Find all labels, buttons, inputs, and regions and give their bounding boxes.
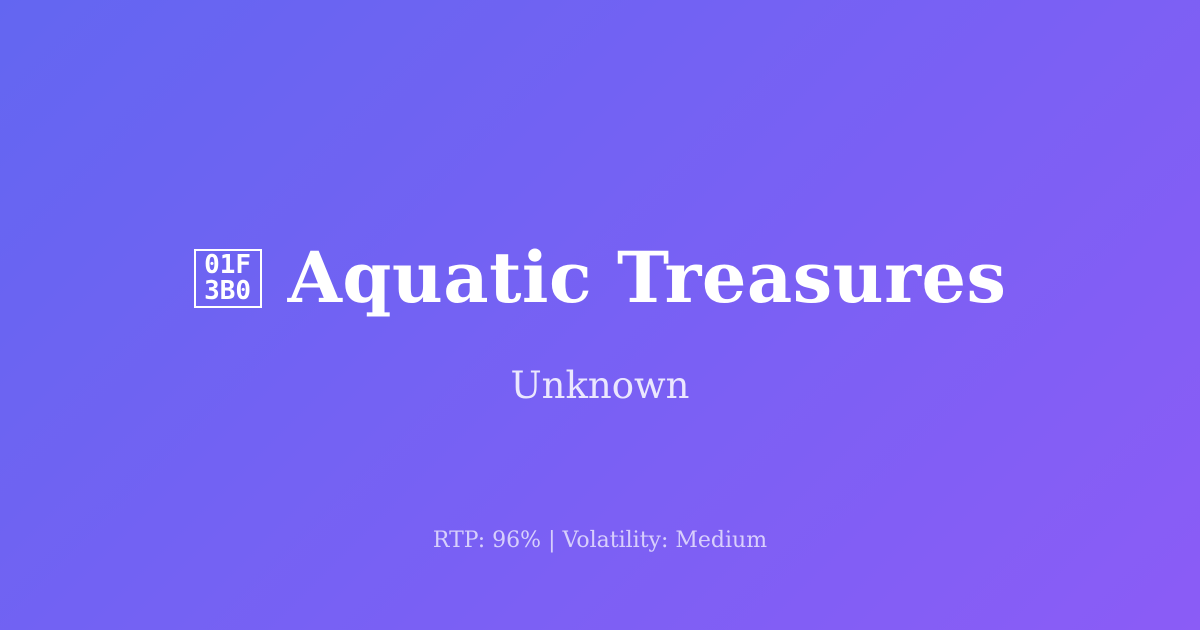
page-title: Aquatic Treasures — [288, 243, 1007, 313]
slot-machine-icon: 01F 3B0 — [194, 249, 262, 308]
game-stats-line: RTP: 96% | Volatility: Medium — [0, 528, 1200, 554]
tofu-codepoint-top: 01F — [204, 252, 251, 278]
title-row: 01F 3B0 Aquatic Treasures — [0, 232, 1200, 324]
game-provider-subtitle: Unknown — [0, 365, 1200, 408]
tofu-codepoint-bottom: 3B0 — [204, 278, 251, 304]
game-og-card: 01F 3B0 Aquatic Treasures Unknown RTP: 9… — [0, 0, 1200, 630]
